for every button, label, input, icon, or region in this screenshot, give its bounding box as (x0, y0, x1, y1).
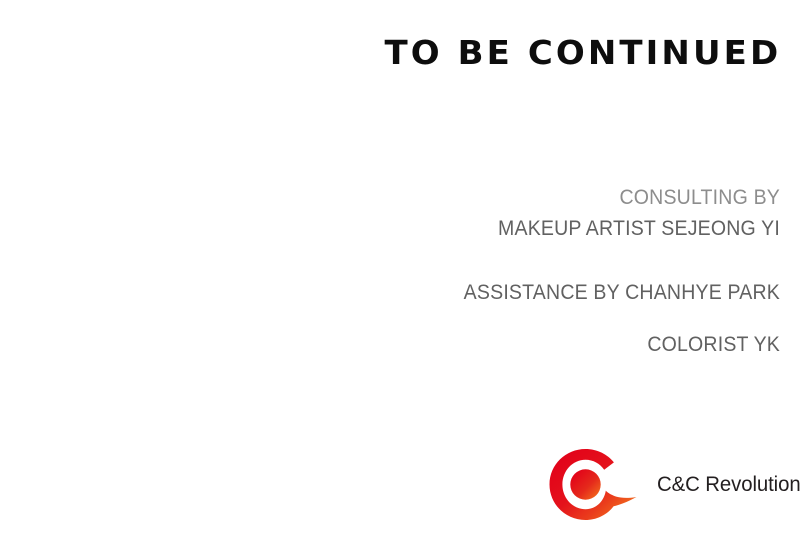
credit-line: MAKEUP ARTIST SEJEONG YI (55, 213, 780, 244)
credit-line: COLORIST YK (55, 329, 780, 360)
credits-block: CONSULTING BY MAKEUP ARTIST SEJEONG YI A… (0, 182, 780, 360)
cc-revolution-c-mark (547, 447, 641, 523)
credit-line: CONSULTING BY (55, 182, 780, 213)
page-title: TO BE CONTINUED (384, 36, 781, 71)
brand-logo: C&C Revolution (547, 447, 781, 523)
title-container: TO BE CONTINUED (0, 36, 781, 71)
credits-group: ASSISTANCE BY CHANHYE PARK COLORIST YK (0, 277, 780, 360)
logo-wordmark: C&C Revolution (657, 473, 800, 497)
credits-group: CONSULTING BY MAKEUP ARTIST SEJEONG YI (0, 182, 780, 244)
credit-line: ASSISTANCE BY CHANHYE PARK (55, 277, 780, 308)
end-card: TO BE CONTINUED CONSULTING BY MAKEUP ART… (0, 0, 800, 556)
